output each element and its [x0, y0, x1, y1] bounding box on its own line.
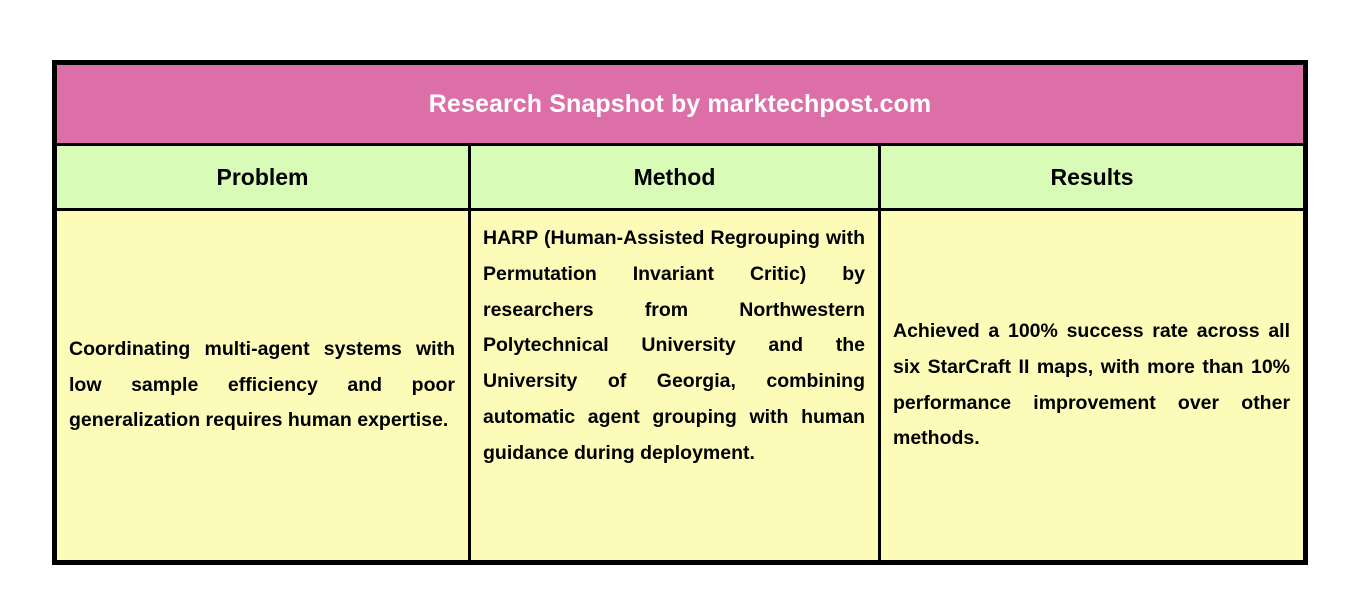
table-title-row: Research Snapshot by marktechpost.com — [55, 63, 1306, 145]
page-root: Research Snapshot by marktechpost.com Pr… — [0, 0, 1362, 598]
body-cell-results: Achieved a 100% success rate across all … — [880, 210, 1306, 563]
column-header-results: Results — [880, 145, 1306, 210]
body-cell-text: Coordinating multi-agent systems with lo… — [57, 328, 468, 443]
column-header-problem: Problem — [55, 145, 470, 210]
column-header-label: Results — [881, 164, 1303, 190]
page-title: Research Snapshot by marktechpost.com — [57, 90, 1303, 118]
column-header-label: Problem — [57, 164, 468, 190]
body-cell-problem: Coordinating multi-agent systems with lo… — [55, 210, 470, 563]
body-cell-method: HARP (Human-Assisted Regrouping with Per… — [470, 210, 880, 563]
table-header-row: Problem Method Results — [55, 145, 1306, 210]
table-title-cell: Research Snapshot by marktechpost.com — [55, 63, 1306, 145]
body-cell-text: HARP (Human-Assisted Regrouping with Per… — [471, 211, 878, 476]
table-body-row: Coordinating multi-agent systems with lo… — [55, 210, 1306, 563]
column-header-label: Method — [471, 164, 878, 190]
body-cell-text: Achieved a 100% success rate across all … — [881, 310, 1303, 461]
column-header-method: Method — [470, 145, 880, 210]
research-snapshot-table: Research Snapshot by marktechpost.com Pr… — [52, 60, 1308, 565]
